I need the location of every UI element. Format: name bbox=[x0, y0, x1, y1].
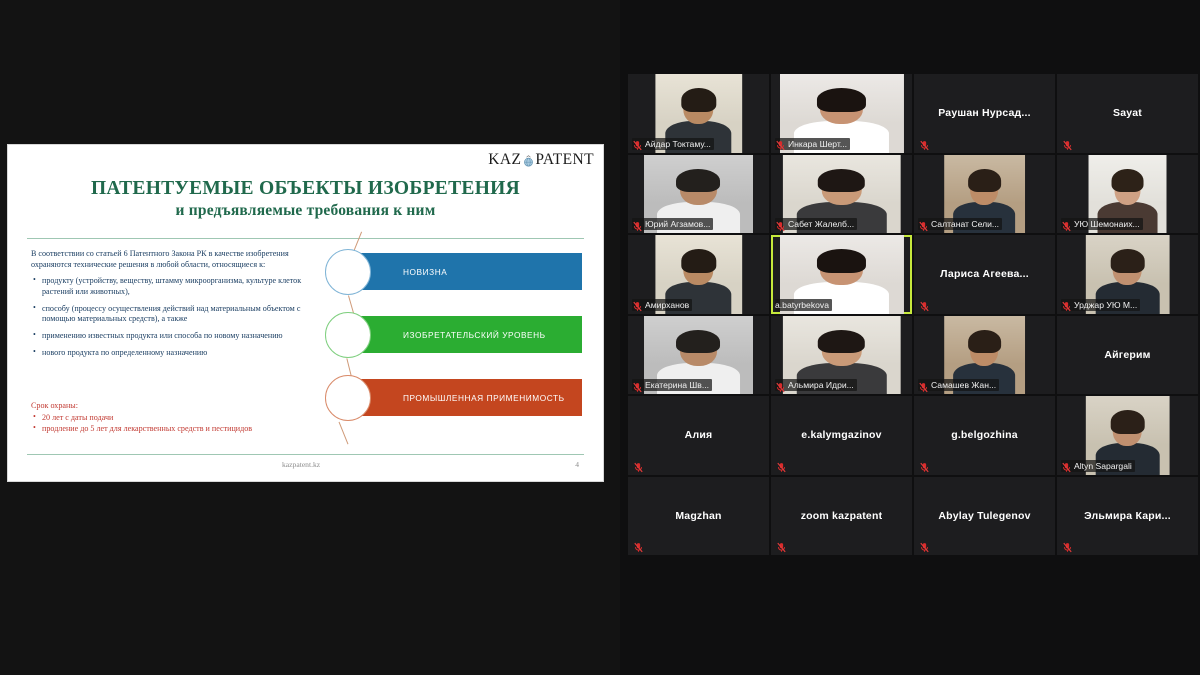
participant-tile[interactable]: Лариса Агеева... bbox=[914, 235, 1055, 314]
participant-tile[interactable]: Altyn Sapargali bbox=[1057, 396, 1198, 475]
participant-grid: Айдар Токтаму...Инкара Шерт...Раушан Нур… bbox=[628, 74, 1200, 552]
participant-hair bbox=[968, 169, 1001, 193]
participant-tile[interactable]: Айдар Токтаму... bbox=[628, 74, 769, 153]
participant-name: Алия bbox=[634, 429, 763, 441]
participant-tile[interactable]: a.batyrbekova bbox=[771, 235, 912, 314]
participant-name: Эльмира Кари... bbox=[1063, 510, 1192, 522]
protection-term-item: 20 лет с даты подачи bbox=[31, 412, 321, 423]
participant-name: Altyn Sapargali bbox=[1074, 460, 1132, 472]
participant-tile[interactable]: g.belgozhina bbox=[914, 396, 1055, 475]
participant-tile[interactable]: Салтанат Сели... bbox=[914, 155, 1055, 234]
participant-hair bbox=[817, 249, 867, 273]
participant-name: Урджар УЮ М... bbox=[1074, 299, 1137, 311]
mic-muted-icon bbox=[1061, 299, 1072, 310]
participant-name: Юрий Агзамов... bbox=[645, 218, 710, 230]
protection-term-list: 20 лет с даты подачи продление до 5 лет … bbox=[31, 412, 321, 434]
participant-name-badge: УЮ Шемонаих... bbox=[1061, 218, 1143, 230]
presentation-slide[interactable]: KAZ PATENT ПАТЕНТУЕМЫЕ ОБЪЕКТЫ ИЗОБРЕТЕН… bbox=[7, 144, 604, 482]
slide-bullet: нового продукта по определенному назначе… bbox=[31, 348, 313, 359]
mic-muted-icon bbox=[919, 138, 930, 149]
participant-tile[interactable]: Алия bbox=[628, 396, 769, 475]
participant-tile[interactable]: Екатерина Шв... bbox=[628, 316, 769, 395]
participant-tile[interactable]: Инкара Шерт... bbox=[771, 74, 912, 153]
logo-text-post: PATENT bbox=[535, 151, 594, 169]
mic-muted-icon bbox=[632, 299, 643, 310]
criteria-circle bbox=[325, 375, 371, 421]
participant-tile[interactable]: Айгерим bbox=[1057, 316, 1198, 395]
participant-name: Sayat bbox=[1063, 107, 1192, 119]
participant-hair bbox=[818, 169, 865, 193]
slide-title-line1: ПАТЕНТУЕМЫЕ ОБЪЕКТЫ ИЗОБРЕТЕНИЯ bbox=[8, 178, 603, 200]
mic-muted-icon bbox=[776, 540, 787, 551]
patentability-criteria-diagram: НОВИЗНА ИЗОБРЕТАТЕЛЬСКИЙ УРОВЕНЬ ПРОМЫШЛ… bbox=[313, 245, 589, 445]
participant-hair bbox=[681, 249, 716, 273]
participant-name: Амирханов bbox=[645, 299, 689, 311]
participant-tile[interactable]: zoom kazpatent bbox=[771, 477, 912, 556]
participant-name: Айгерим bbox=[1063, 349, 1192, 361]
participant-name-badge: Юрий Агзамов... bbox=[632, 218, 713, 230]
slide-bullet: применению известных продукта или способ… bbox=[31, 331, 313, 342]
participant-name-badge: Сабет Жалелб... bbox=[775, 218, 857, 230]
participant-name: a.batyrbekova bbox=[775, 299, 829, 311]
participant-hair bbox=[817, 88, 867, 112]
mic-muted-icon bbox=[1061, 219, 1072, 230]
participant-name: Раушан Нурсад... bbox=[920, 107, 1049, 119]
mic-muted-icon bbox=[918, 219, 929, 230]
mic-muted-icon bbox=[1061, 460, 1072, 471]
participant-tile[interactable]: Юрий Агзамов... bbox=[628, 155, 769, 234]
mic-muted-icon bbox=[919, 460, 930, 471]
footer-site: kazpatent.kz bbox=[282, 460, 320, 469]
mic-muted-icon bbox=[633, 540, 644, 551]
slide-title: ПАТЕНТУЕМЫЕ ОБЪЕКТЫ ИЗОБРЕТЕНИЯ и предъя… bbox=[8, 178, 603, 222]
slide-footer: kazpatent.kz 4 bbox=[8, 460, 603, 474]
participant-name-badge: Айдар Токтаму... bbox=[632, 138, 714, 150]
participant-name-badge: Инкара Шерт... bbox=[775, 138, 850, 150]
divider-top bbox=[27, 238, 584, 239]
participant-name-badge: Альмира Идри... bbox=[775, 379, 857, 391]
slide-bullet: продукту (устройству, веществу, штамму м… bbox=[31, 276, 313, 297]
mic-muted-icon bbox=[775, 219, 786, 230]
slide-bullet-list: продукту (устройству, веществу, штамму м… bbox=[31, 276, 313, 358]
mic-muted-icon bbox=[1062, 540, 1073, 551]
mic-muted-icon bbox=[1062, 138, 1073, 149]
participant-hair bbox=[1111, 410, 1145, 434]
participant-tile[interactable]: Сабет Жалелб... bbox=[771, 155, 912, 234]
participant-name: zoom kazpatent bbox=[777, 510, 906, 522]
mic-muted-icon bbox=[633, 460, 644, 471]
participant-tile[interactable]: Abylay Tulegenov bbox=[914, 477, 1055, 556]
participant-name-badge: Altyn Sapargali bbox=[1061, 460, 1135, 472]
kazpatent-logo: KAZ PATENT bbox=[488, 151, 594, 169]
slide-lead-paragraph: В соответствии со статьей 6 Патентного З… bbox=[31, 249, 313, 270]
criteria-circle bbox=[325, 312, 371, 358]
criteria-bar-novelty: НОВИЗНА bbox=[351, 253, 582, 290]
participant-name: Magzhan bbox=[634, 510, 763, 522]
criteria-label: ПРОМЫШЛЕННАЯ ПРИМЕНИМОСТЬ bbox=[351, 393, 565, 403]
participant-name: e.kalymgazinov bbox=[777, 429, 906, 441]
participant-hair bbox=[968, 330, 1001, 354]
criteria-bar-inventive-step: ИЗОБРЕТАТЕЛЬСКИЙ УРОВЕНЬ bbox=[351, 316, 582, 353]
connector-line bbox=[339, 422, 349, 445]
participant-hair bbox=[677, 330, 721, 354]
participant-tile[interactable]: Раушан Нурсад... bbox=[914, 74, 1055, 153]
divider-bottom bbox=[27, 454, 584, 455]
participant-hair bbox=[1111, 249, 1145, 273]
participant-name: g.belgozhina bbox=[920, 429, 1049, 441]
participant-name: Альмира Идри... bbox=[788, 379, 854, 391]
participant-name: УЮ Шемонаих... bbox=[1074, 218, 1140, 230]
protection-term-item: продление до 5 лет для лекарственных сре… bbox=[31, 423, 321, 434]
participant-tile[interactable]: Magzhan bbox=[628, 477, 769, 556]
shared-screen-area[interactable]: KAZ PATENT ПАТЕНТУЕМЫЕ ОБЪЕКТЫ ИЗОБРЕТЕН… bbox=[0, 0, 620, 675]
mic-muted-icon bbox=[918, 380, 929, 391]
participant-name: Айдар Токтаму... bbox=[645, 138, 711, 150]
criteria-label: ИЗОБРЕТАТЕЛЬСКИЙ УРОВЕНЬ bbox=[351, 330, 546, 340]
criteria-bar-industrial-applicability: ПРОМЫШЛЕННАЯ ПРИМЕНИМОСТЬ bbox=[351, 379, 582, 416]
participant-hair bbox=[818, 330, 865, 354]
participant-tile[interactable]: УЮ Шемонаих... bbox=[1057, 155, 1198, 234]
participant-name-badge: Екатерина Шв... bbox=[632, 379, 712, 391]
criteria-circle bbox=[325, 249, 371, 295]
slide-bullet: способу (процессу осуществления действий… bbox=[31, 304, 313, 325]
participant-name-badge: Салтанат Сели... bbox=[918, 218, 1002, 230]
participant-tile[interactable]: Урджар УЮ М... bbox=[1057, 235, 1198, 314]
participant-name: Сабет Жалелб... bbox=[788, 218, 854, 230]
footer-page-number: 4 bbox=[575, 460, 579, 469]
participant-hair bbox=[1112, 169, 1144, 193]
participant-tile[interactable]: Амирханов bbox=[628, 235, 769, 314]
logo-text-pre: KAZ bbox=[488, 151, 521, 169]
mic-muted-icon bbox=[632, 219, 643, 230]
participant-name: Инкара Шерт... bbox=[788, 138, 847, 150]
mic-muted-icon bbox=[775, 138, 786, 149]
participant-hair bbox=[681, 88, 716, 112]
participant-name-badge: Самашев Жан... bbox=[918, 379, 999, 391]
participant-hair bbox=[677, 169, 721, 193]
participant-name: Екатерина Шв... bbox=[645, 379, 709, 391]
mic-muted-icon bbox=[919, 299, 930, 310]
participant-tile[interactable]: Самашев Жан... bbox=[914, 316, 1055, 395]
zoom-meeting-window: KAZ PATENT ПАТЕНТУЕМЫЕ ОБЪЕКТЫ ИЗОБРЕТЕН… bbox=[0, 0, 1200, 675]
participant-tile[interactable]: e.kalymgazinov bbox=[771, 396, 912, 475]
mic-muted-icon bbox=[775, 380, 786, 391]
protection-term-header: Срок охраны: bbox=[31, 400, 321, 411]
participant-name: Abylay Tulegenov bbox=[920, 510, 1049, 522]
slide-title-line2: и предъявляемые требования к ним bbox=[8, 201, 603, 221]
participant-name-badge: Амирханов bbox=[632, 299, 692, 311]
participant-name-badge: a.batyrbekova bbox=[775, 299, 832, 311]
mic-muted-icon bbox=[632, 380, 643, 391]
mic-muted-icon bbox=[632, 138, 643, 149]
slide-body-text: В соответствии со статьей 6 Патентного З… bbox=[31, 249, 313, 364]
participant-name: Самашев Жан... bbox=[931, 379, 996, 391]
participant-tile[interactable]: Sayat bbox=[1057, 74, 1198, 153]
mic-muted-icon bbox=[776, 460, 787, 471]
mic-muted-icon bbox=[919, 540, 930, 551]
participant-name: Салтанат Сели... bbox=[931, 218, 999, 230]
globe-icon bbox=[522, 155, 535, 168]
participant-name-badge: Урджар УЮ М... bbox=[1061, 299, 1140, 311]
participant-tile[interactable]: Альмира Идри... bbox=[771, 316, 912, 395]
participant-tile[interactable]: Эльмира Кари... bbox=[1057, 477, 1198, 556]
participant-name: Лариса Агеева... bbox=[920, 268, 1049, 280]
protection-term-block: Срок охраны: 20 лет с даты подачи продле… bbox=[31, 400, 321, 434]
